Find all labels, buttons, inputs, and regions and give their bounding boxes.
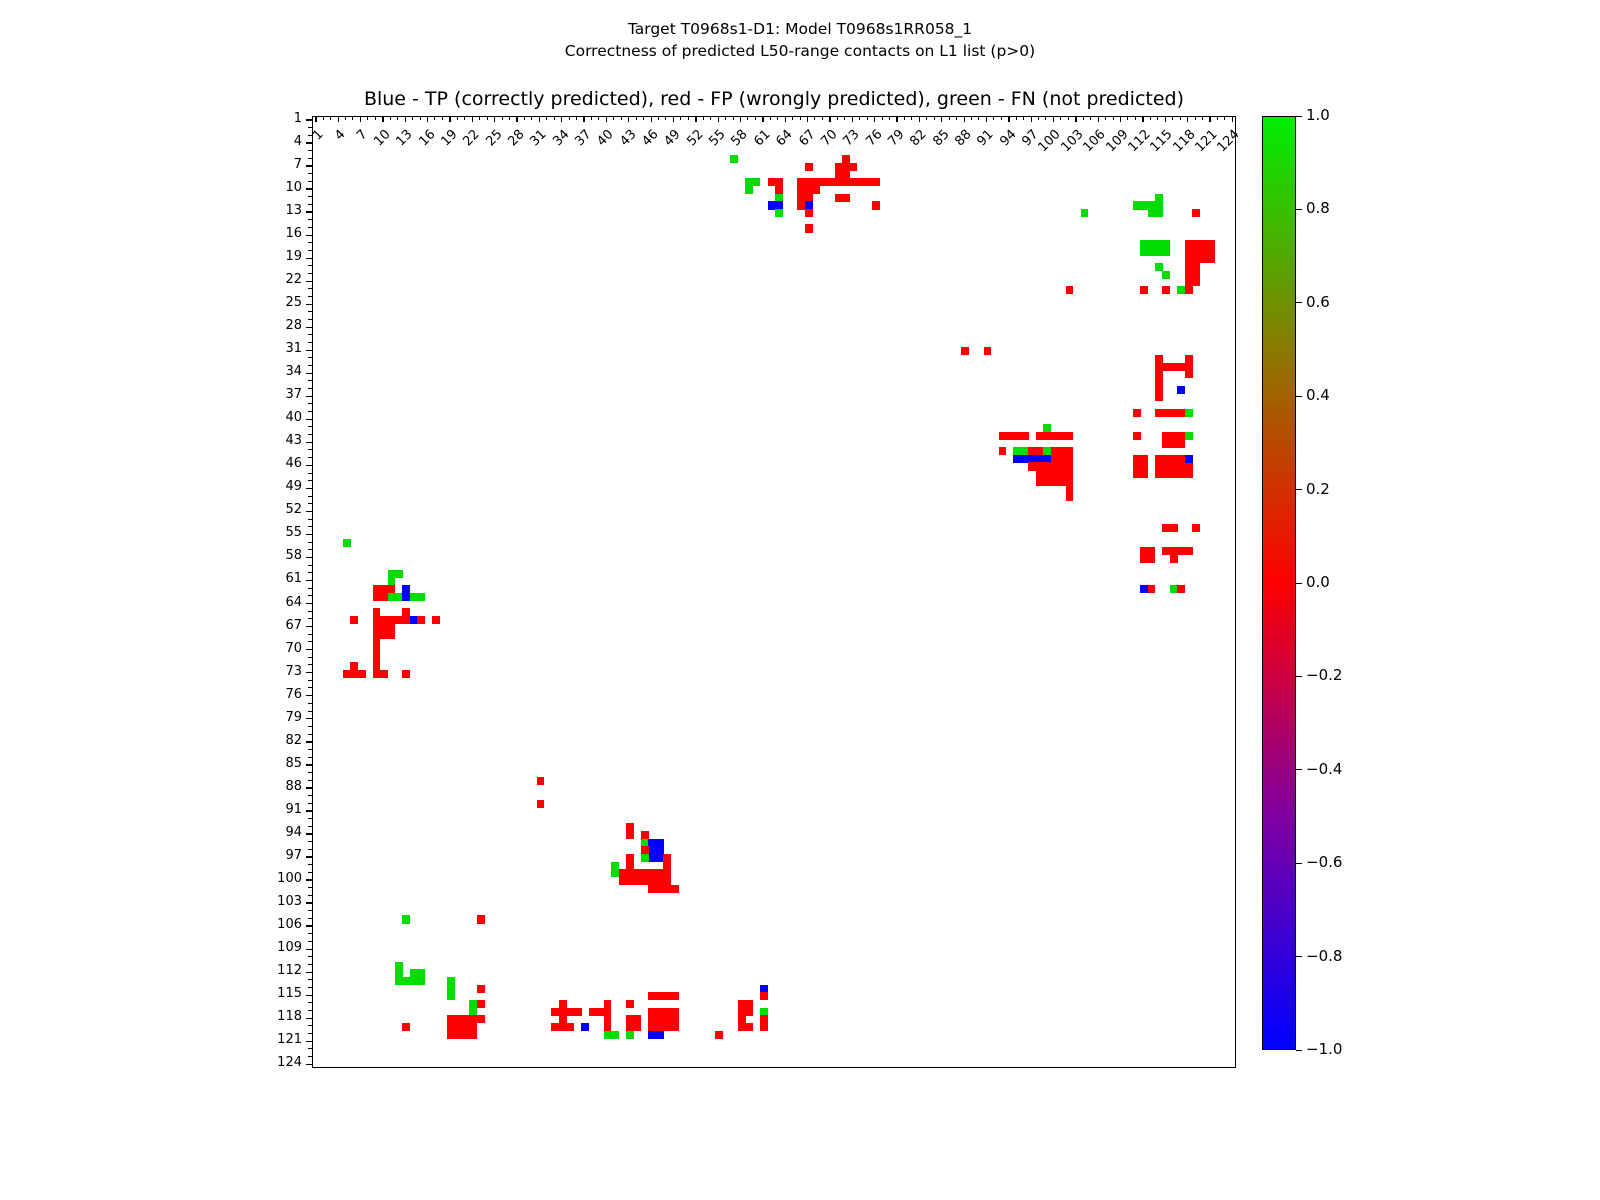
colorbar-tick-label: −0.4: [1306, 760, 1342, 778]
x-tick-minor: [591, 116, 592, 117]
x-tick-major: 109: [1121, 116, 1122, 117]
x-tick-minor: [1046, 116, 1047, 117]
contact-cell: [1066, 286, 1074, 294]
x-tick-minor: [644, 116, 645, 117]
y-tick-minor: [312, 849, 313, 850]
tick-mark: [971, 116, 972, 120]
contact-cell: [477, 915, 485, 923]
y-tick-minor: [312, 412, 313, 413]
colorbar[interactable]: [1262, 116, 1296, 1050]
contact-cell: [1185, 432, 1193, 440]
y-tick-major: 37: [312, 396, 313, 397]
colorbar-tick: 1.0: [1296, 116, 1297, 117]
tick-mark: [308, 826, 312, 827]
y-tick-minor: [312, 818, 313, 819]
x-tick-minor: [368, 116, 369, 117]
x-tick-minor: [748, 116, 749, 117]
tick-mark: [755, 116, 756, 120]
contact-cell: [373, 624, 396, 640]
x-tick-major: 118: [1188, 116, 1189, 117]
colorbar-tick: −0.8: [1296, 957, 1297, 958]
y-tick-label: 94: [242, 825, 302, 840]
contact-cell: [417, 616, 425, 624]
contact-cell: [626, 823, 634, 839]
y-tick-minor: [312, 987, 313, 988]
tick-mark: [859, 116, 860, 120]
x-tick-minor: [949, 116, 950, 117]
tick-mark: [308, 1033, 312, 1034]
y-tick-minor: [312, 519, 313, 520]
tick-mark: [308, 496, 312, 497]
tick-mark: [306, 925, 312, 926]
y-tick-label: 34: [242, 364, 302, 379]
y-tick-major: 100: [312, 880, 313, 881]
x-tick-major: 1: [316, 116, 317, 117]
y-tick-label: 112: [242, 963, 302, 978]
tick-mark: [934, 116, 935, 120]
contact-cell: [999, 432, 1029, 440]
x-tick-minor: [457, 116, 458, 117]
y-tick-major: 25: [312, 304, 313, 305]
x-tick-minor: [1091, 116, 1092, 117]
tick-mark: [1232, 116, 1233, 122]
y-tick-major: 70: [312, 650, 313, 651]
x-tick-major: 88: [964, 116, 965, 117]
contact-cell: [477, 1000, 485, 1008]
tick-mark: [636, 116, 637, 120]
tick-mark: [956, 116, 957, 120]
x-tick-major: 55: [718, 116, 719, 117]
contact-cell: [648, 885, 678, 893]
y-tick-major: 79: [312, 719, 313, 720]
contact-cell: [648, 1031, 663, 1039]
tick-mark: [306, 373, 312, 374]
x-tick-major: 70: [830, 116, 831, 117]
x-tick-minor: [547, 116, 548, 117]
x-tick-minor: [636, 116, 637, 117]
y-tick-minor: [312, 227, 313, 228]
x-tick-major: 79: [897, 116, 898, 117]
y-tick-label: 64: [242, 595, 302, 610]
tick-mark: [546, 116, 547, 120]
tick-mark: [306, 488, 312, 489]
tick-mark: [308, 227, 312, 228]
tick-mark: [308, 795, 312, 796]
contact-cell: [626, 1000, 634, 1008]
tick-mark: [1142, 116, 1143, 122]
x-tick-major: 61: [763, 116, 764, 117]
y-tick-major: 103: [312, 903, 313, 904]
tick-mark: [306, 902, 312, 903]
contact-cell: [581, 1023, 589, 1031]
tick-mark: [1120, 116, 1121, 122]
tick-mark: [360, 116, 361, 122]
y-tick-major: 46: [312, 465, 313, 466]
tick-mark: [306, 534, 312, 535]
x-tick-major: 46: [651, 116, 652, 117]
tick-mark: [1296, 863, 1302, 864]
tick-mark: [569, 116, 570, 120]
y-tick-minor: [312, 980, 313, 981]
y-tick-label: 52: [242, 502, 302, 517]
y-tick-major: 73: [312, 673, 313, 674]
tick-mark: [308, 565, 312, 566]
y-tick-label: 28: [242, 318, 302, 333]
tick-mark: [1075, 116, 1076, 122]
y-tick-major: 58: [312, 557, 313, 558]
tick-mark: [1296, 396, 1302, 397]
contact-cell: [1140, 547, 1155, 563]
contact-cell: [1192, 209, 1200, 217]
x-tick-minor: [867, 116, 868, 117]
y-tick-label: 121: [242, 1032, 302, 1047]
tick-mark: [1296, 583, 1302, 584]
tick-mark: [308, 703, 312, 704]
y-tick-minor: [312, 273, 313, 274]
x-tick-minor: [509, 116, 510, 117]
y-tick-minor: [312, 181, 313, 182]
x-tick-major: 121: [1210, 116, 1211, 117]
y-tick-minor: [312, 957, 313, 958]
tick-mark: [1016, 116, 1017, 120]
contact-cell: [648, 1008, 678, 1031]
x-tick-major: 40: [606, 116, 607, 117]
tick-mark: [405, 116, 406, 122]
tick-mark: [306, 949, 312, 950]
tick-mark: [1296, 302, 1302, 303]
x-tick-minor: [1016, 116, 1017, 117]
contact-cell: [1177, 386, 1185, 394]
tick-mark: [308, 519, 312, 520]
tick-mark: [509, 116, 510, 120]
contact-cell: [663, 854, 671, 870]
contact-cell: [1185, 240, 1215, 263]
y-tick-minor: [312, 1003, 313, 1004]
tick-mark: [306, 396, 312, 397]
contact-cell: [373, 593, 388, 601]
x-tick-minor: [413, 116, 414, 117]
tick-mark: [837, 116, 838, 120]
x-tick-minor: [1039, 116, 1040, 117]
x-tick-minor: [532, 116, 533, 117]
tick-mark: [904, 116, 905, 120]
contact-cell: [648, 992, 678, 1000]
tick-mark: [308, 780, 312, 781]
y-tick-minor: [312, 1056, 313, 1057]
contact-cell: [343, 539, 351, 547]
tick-mark: [308, 434, 312, 435]
tick-mark: [308, 910, 312, 911]
contact-cell: [537, 800, 545, 808]
y-tick-minor: [312, 911, 313, 912]
tick-mark: [306, 764, 312, 765]
x-tick-minor: [1083, 116, 1084, 117]
tick-mark: [464, 116, 465, 120]
tick-mark: [308, 503, 312, 504]
y-tick-minor: [312, 550, 313, 551]
contact-cell: [402, 670, 410, 678]
x-tick-major: 82: [919, 116, 920, 117]
contact-cell: [1036, 470, 1059, 486]
tick-mark: [306, 511, 312, 512]
tick-mark: [844, 116, 845, 120]
colorbar-tick: 0.2: [1296, 490, 1297, 491]
tick-mark: [703, 116, 704, 120]
y-tick-major: 31: [312, 350, 313, 351]
tick-mark: [412, 116, 413, 120]
y-tick-major: 106: [312, 926, 313, 927]
tick-mark: [308, 864, 312, 865]
x-tick-major: 73: [852, 116, 853, 117]
y-tick-minor: [312, 266, 313, 267]
x-tick-major: 28: [517, 116, 518, 117]
tick-mark: [308, 941, 312, 942]
tick-mark: [710, 116, 711, 120]
x-tick-minor: [1135, 116, 1136, 117]
tick-mark: [1202, 116, 1203, 120]
tick-mark: [651, 116, 652, 122]
contact-cell: [373, 670, 388, 678]
y-tick-label: 37: [242, 387, 302, 402]
tick-mark: [330, 116, 331, 120]
tick-mark: [308, 196, 312, 197]
contact-cell: [1140, 286, 1148, 294]
colorbar-tick: −0.6: [1296, 863, 1297, 864]
y-tick-label: 109: [242, 940, 302, 955]
contact-cell: [395, 977, 425, 985]
y-tick-label: 88: [242, 779, 302, 794]
tick-mark: [554, 116, 555, 120]
tick-mark: [306, 188, 312, 189]
x-tick-minor: [1150, 116, 1151, 117]
contact-cell: [1185, 263, 1200, 286]
y-tick-minor: [312, 366, 313, 367]
x-tick-minor: [882, 116, 883, 117]
x-tick-minor: [711, 116, 712, 117]
y-tick-minor: [312, 427, 313, 428]
tick-mark: [308, 956, 312, 957]
tick-mark: [308, 849, 312, 850]
x-tick-minor: [1173, 116, 1174, 117]
y-tick-minor: [312, 826, 313, 827]
tick-mark: [308, 403, 312, 404]
x-tick-minor: [1158, 116, 1159, 117]
tick-mark: [740, 116, 741, 122]
tick-mark: [442, 116, 443, 120]
y-tick-major: 40: [312, 419, 313, 420]
tick-mark: [1045, 116, 1046, 120]
y-tick-minor: [312, 680, 313, 681]
tick-mark: [306, 281, 312, 282]
tick-mark: [375, 116, 376, 120]
x-tick-minor: [465, 116, 466, 117]
contact-cell: [872, 201, 880, 209]
axes-title-legend: Blue - TP (correctly predicted), red - F…: [312, 88, 1236, 110]
x-tick-minor: [726, 116, 727, 117]
tick-mark: [457, 116, 458, 120]
tick-mark: [308, 1025, 312, 1026]
y-tick-minor: [312, 458, 313, 459]
tick-mark: [911, 116, 912, 120]
x-tick-major: 43: [629, 116, 630, 117]
y-tick-minor: [312, 703, 313, 704]
y-tick-minor: [312, 588, 313, 589]
y-tick-minor: [312, 342, 313, 343]
contact-cell: [760, 992, 768, 1000]
y-tick-label: 106: [242, 917, 302, 932]
tick-mark: [306, 419, 312, 420]
tick-mark: [308, 588, 312, 589]
y-tick-minor: [312, 527, 313, 528]
y-tick-minor: [312, 872, 313, 873]
tick-mark: [306, 442, 312, 443]
tick-mark: [1150, 116, 1151, 120]
contact-cell: [1185, 370, 1193, 378]
contact-cell: [1066, 486, 1074, 502]
x-tick-major: 85: [942, 116, 943, 117]
x-tick-major: 103: [1076, 116, 1077, 117]
contact-cell: [999, 447, 1007, 455]
y-tick-minor: [312, 1026, 313, 1027]
y-tick-major: 49: [312, 488, 313, 489]
tick-mark: [427, 116, 428, 122]
y-tick-label: 67: [242, 618, 302, 633]
y-tick-minor: [312, 1049, 313, 1050]
x-tick-minor: [569, 116, 570, 117]
x-tick-minor: [1217, 116, 1218, 117]
tick-mark: [308, 219, 312, 220]
tick-mark: [628, 116, 629, 122]
contact-map-plot[interactable]: [312, 116, 1236, 1068]
contact-cell: [1133, 409, 1141, 417]
contact-cell: [1155, 409, 1185, 417]
y-tick-minor: [312, 895, 313, 896]
x-tick-minor: [912, 116, 913, 117]
tick-mark: [308, 595, 312, 596]
y-tick-minor: [312, 473, 313, 474]
tick-mark: [306, 304, 312, 305]
y-tick-minor: [312, 688, 313, 689]
contact-cell: [805, 209, 813, 217]
contact-cell: [1140, 248, 1170, 256]
tick-mark: [1209, 116, 1210, 122]
tick-mark: [725, 116, 726, 120]
y-tick-label: 46: [242, 456, 302, 471]
tick-mark: [829, 116, 830, 122]
y-tick-label: 13: [242, 203, 302, 218]
y-tick-minor: [312, 665, 313, 666]
figure-root: Target T0968s1-D1: Model T0968s1RR058_1 …: [0, 0, 1600, 1200]
y-tick-major: 52: [312, 511, 313, 512]
contact-cell: [343, 670, 366, 678]
contact-cell: [1162, 432, 1185, 448]
tick-mark: [308, 803, 312, 804]
tick-mark: [306, 856, 312, 857]
y-tick-minor: [312, 204, 313, 205]
tick-mark: [306, 1018, 312, 1019]
y-tick-major: 61: [312, 580, 313, 581]
contact-cell: [1155, 386, 1163, 402]
contact-cell: [395, 962, 403, 978]
x-tick-minor: [1061, 116, 1062, 117]
tick-mark: [680, 116, 681, 120]
tick-mark: [306, 327, 312, 328]
x-tick-major: 97: [1031, 116, 1032, 117]
x-tick-minor: [860, 116, 861, 117]
colorbar-tick: −0.4: [1296, 770, 1297, 771]
y-tick-label: 22: [242, 272, 302, 287]
x-tick-minor: [1068, 116, 1069, 117]
contact-cell: [1081, 209, 1089, 217]
y-tick-major: 10: [312, 189, 313, 190]
x-tick-major: 94: [1009, 116, 1010, 117]
y-tick-major: 1: [312, 120, 313, 121]
tick-mark: [308, 296, 312, 297]
tick-mark: [308, 964, 312, 965]
tick-mark: [449, 116, 450, 122]
contact-cell: [373, 639, 381, 670]
y-tick-major: 121: [312, 1041, 313, 1042]
tick-mark: [807, 116, 808, 122]
y-tick-major: 97: [312, 857, 313, 858]
tick-mark: [613, 116, 614, 120]
x-tick-minor: [666, 116, 667, 117]
x-tick-major: 16: [428, 116, 429, 117]
tick-mark: [1195, 116, 1196, 120]
tick-mark: [308, 887, 312, 888]
y-tick-label: 58: [242, 548, 302, 563]
contact-cell: [1133, 432, 1141, 440]
tick-mark: [390, 116, 391, 120]
x-tick-minor: [577, 116, 578, 117]
tick-mark: [792, 116, 793, 120]
tick-mark: [308, 895, 312, 896]
y-tick-minor: [312, 565, 313, 566]
tick-mark: [308, 273, 312, 274]
contact-cell: [1162, 286, 1170, 294]
contact-cell: [745, 186, 753, 194]
colorbar-gradient: [1263, 117, 1295, 1049]
y-tick-minor: [312, 481, 313, 482]
tick-mark: [308, 457, 312, 458]
contact-cell: [537, 777, 545, 785]
tick-mark: [306, 879, 312, 880]
y-tick-minor: [312, 711, 313, 712]
tick-mark: [308, 288, 312, 289]
tick-mark: [1083, 116, 1084, 120]
y-tick-major: 34: [312, 373, 313, 374]
y-tick-minor: [312, 888, 313, 889]
y-tick-minor: [312, 842, 313, 843]
x-tick-major: 52: [696, 116, 697, 117]
tick-mark: [695, 116, 696, 122]
tick-mark: [1157, 116, 1158, 120]
x-tick-major: 10: [383, 116, 384, 117]
y-tick-minor: [312, 619, 313, 620]
tick-mark: [770, 116, 771, 120]
tick-mark: [308, 473, 312, 474]
tick-mark: [1296, 489, 1302, 490]
tick-mark: [308, 726, 312, 727]
tick-mark: [658, 116, 659, 120]
colorbar-tick: 0.0: [1296, 583, 1297, 584]
tick-mark: [606, 116, 607, 122]
y-tick-major: 64: [312, 604, 313, 605]
tick-mark: [665, 116, 666, 120]
tick-mark: [397, 116, 398, 120]
tick-mark: [1038, 116, 1039, 120]
tick-mark: [308, 265, 312, 266]
